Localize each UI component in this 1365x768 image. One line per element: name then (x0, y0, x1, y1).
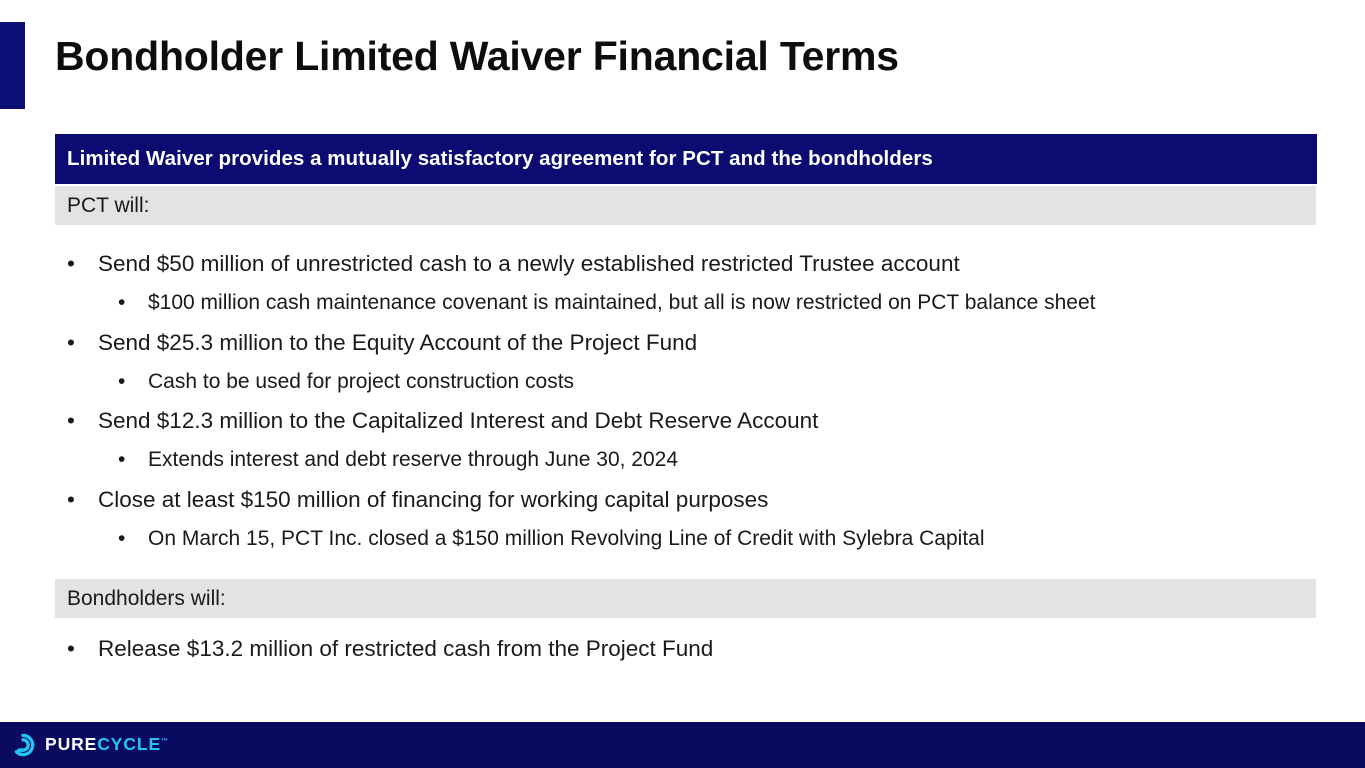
title-accent-bar (0, 22, 25, 109)
bullet-text: Close at least $150 million of financing… (98, 480, 768, 519)
bullet-item: •Release $13.2 million of restricted cas… (55, 629, 1345, 668)
brand-wordmark: PURECYCLE™ (45, 736, 168, 754)
footer-bar: PURECYCLE™ Overview Ironton Global Finan… (0, 722, 1365, 768)
bullet-marker-icon: • (67, 244, 75, 283)
bullet-text: $100 million cash maintenance covenant i… (148, 283, 1095, 322)
section-header-bondholders-label: Bondholders will: (55, 587, 226, 611)
purecycle-loop-icon (10, 732, 36, 758)
section-header-bondholders: Bondholders will: (55, 579, 1316, 618)
bullet-marker-icon: • (67, 629, 75, 668)
bullet-item: •Cash to be used for project constructio… (55, 362, 1345, 401)
bullet-marker-icon: • (118, 283, 125, 322)
bullet-item: •Send $50 million of unrestricted cash t… (55, 244, 1345, 283)
bullet-text: Cash to be used for project construction… (148, 362, 574, 401)
bullet-text: Send $25.3 million to the Equity Account… (98, 323, 697, 362)
bullet-text: Send $50 million of unrestricted cash to… (98, 244, 960, 283)
bullet-item: •On March 15, PCT Inc. closed a $150 mil… (55, 519, 1345, 558)
headline-banner: Limited Waiver provides a mutually satis… (55, 134, 1317, 184)
bullet-item: •Extends interest and debt reserve throu… (55, 440, 1345, 479)
section-header-pct-label: PCT will: (55, 194, 149, 218)
bullet-item: •Close at least $150 million of financin… (55, 480, 1345, 519)
brand-wordmark-cycle: CYCLE (97, 734, 161, 754)
bullet-text: Extends interest and debt reserve throug… (148, 440, 678, 479)
brand-logo: PURECYCLE™ (10, 722, 168, 768)
bullet-item: •Send $12.3 million to the Capitalized I… (55, 401, 1345, 440)
bullet-text: Release $13.2 million of restricted cash… (98, 629, 713, 668)
bullet-item: •$100 million cash maintenance covenant … (55, 283, 1345, 322)
bullet-text: Send $12.3 million to the Capitalized In… (98, 401, 818, 440)
page-title: Bondholder Limited Waiver Financial Term… (55, 33, 1315, 80)
bullet-list-bondholders: •Release $13.2 million of restricted cas… (55, 629, 1345, 668)
bullet-marker-icon: • (67, 480, 75, 519)
section-header-pct: PCT will: (55, 186, 1316, 225)
bullet-marker-icon: • (118, 519, 125, 558)
brand-wordmark-pure: PURE (45, 734, 97, 754)
headline-banner-text: Limited Waiver provides a mutually satis… (55, 147, 933, 171)
slide: Bondholder Limited Waiver Financial Term… (0, 0, 1365, 768)
bullet-marker-icon: • (118, 440, 125, 479)
bullet-marker-icon: • (67, 401, 75, 440)
bullet-list-pct: •Send $50 million of unrestricted cash t… (55, 244, 1345, 558)
bullet-text: On March 15, PCT Inc. closed a $150 mill… (148, 519, 985, 558)
bullet-marker-icon: • (118, 362, 125, 401)
bullet-marker-icon: • (67, 323, 75, 362)
brand-trademark: ™ (161, 738, 168, 745)
bullet-item: •Send $25.3 million to the Equity Accoun… (55, 323, 1345, 362)
